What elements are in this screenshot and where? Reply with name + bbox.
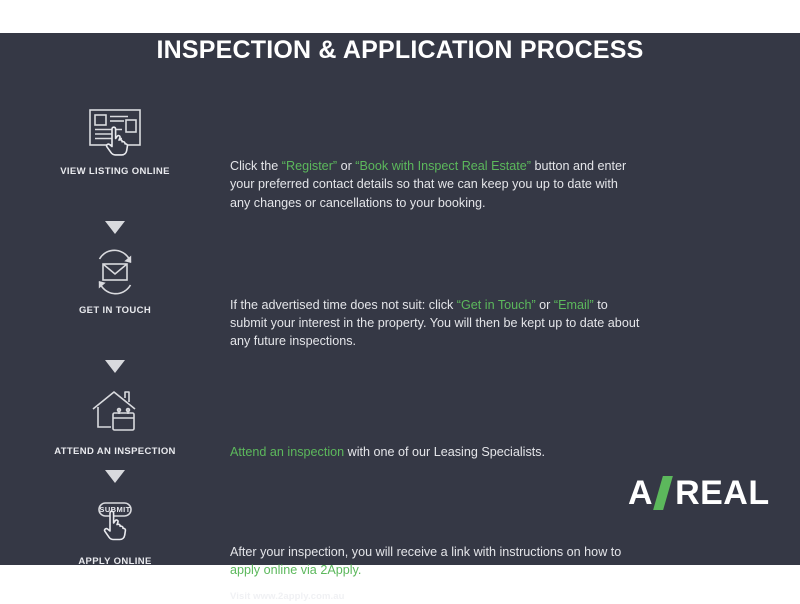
step-4-text-0: After your inspection, you will receive … xyxy=(230,545,621,559)
house-calendar-icon xyxy=(83,385,147,441)
step-3-text-1: with one of our Leasing Specialists. xyxy=(344,445,545,459)
logo-right-text: REAL xyxy=(675,476,770,510)
step-1-text-3: “Book with Inspect Real Estate” xyxy=(355,159,531,173)
visit-url-note: Visit www.2apply.com.au xyxy=(230,590,640,604)
brand-logo: A REAL xyxy=(628,473,770,513)
arrow-row-1 xyxy=(0,212,800,240)
step-4-icon-column: SUBMIT APPLY ONLINE xyxy=(0,495,230,567)
step-2-description: If the advertised time does not suit: cl… xyxy=(230,244,800,351)
step-2-text-2: or xyxy=(536,298,554,312)
step-3-icon-column: ATTEND AN INSPECTION xyxy=(0,385,230,457)
step-1-icon-column: VIEW LISTING ONLINE xyxy=(0,105,230,177)
arrow-row-2 xyxy=(0,351,800,379)
down-triangle-icon xyxy=(105,470,125,483)
step-2-icon-column: GET IN TOUCH xyxy=(0,244,230,316)
step-1-description: Click the “Register” or “Book with Inspe… xyxy=(230,105,800,212)
step-1-text-0: Click the xyxy=(230,159,282,173)
step-4-text-1: apply online via 2Apply. xyxy=(230,563,361,577)
step-3-text-0: Attend an inspection xyxy=(230,445,344,459)
step-1-text-2: or xyxy=(337,159,355,173)
step-2-text-1: “Get in Touch” xyxy=(457,298,536,312)
process-step-attend-an-inspection: ATTEND AN INSPECTION Attend an inspectio… xyxy=(0,385,800,461)
step-2-text-0: If the advertised time does not suit: cl… xyxy=(230,298,457,312)
process-step-view-listing-online: VIEW LISTING ONLINE Click the “Register”… xyxy=(0,105,800,212)
step-3-description: Attend an inspection with one of our Lea… xyxy=(230,385,800,461)
step-1-text-1: “Register” xyxy=(282,159,337,173)
down-triangle-icon xyxy=(105,221,125,234)
logo-left-text: A xyxy=(628,476,653,510)
submit-button-cursor-icon: SUBMIT xyxy=(83,495,147,551)
arrow-1-column xyxy=(0,212,230,240)
step-2-text-3: “Email” xyxy=(554,298,594,312)
slide-root: INSPECTION & APPLICATION PROCESS xyxy=(0,0,800,600)
process-step-get-in-touch: GET IN TOUCH If the advertised time does… xyxy=(0,244,800,351)
page-title: INSPECTION & APPLICATION PROCESS xyxy=(0,36,800,65)
step-2-label: GET IN TOUCH xyxy=(79,305,151,316)
logo-slash-icon xyxy=(653,476,673,510)
arrow-3-column xyxy=(0,461,230,489)
down-triangle-icon xyxy=(105,360,125,373)
envelope-refresh-icon xyxy=(83,244,147,300)
step-3-label: ATTEND AN INSPECTION xyxy=(54,446,176,457)
step-1-label: VIEW LISTING ONLINE xyxy=(60,166,170,177)
listing-window-cursor-icon xyxy=(83,105,147,161)
process-steps: VIEW LISTING ONLINE Click the “Register”… xyxy=(0,105,800,604)
arrow-2-column xyxy=(0,351,230,379)
step-4-label: APPLY ONLINE xyxy=(78,556,151,567)
svg-text:SUBMIT: SUBMIT xyxy=(99,505,130,514)
